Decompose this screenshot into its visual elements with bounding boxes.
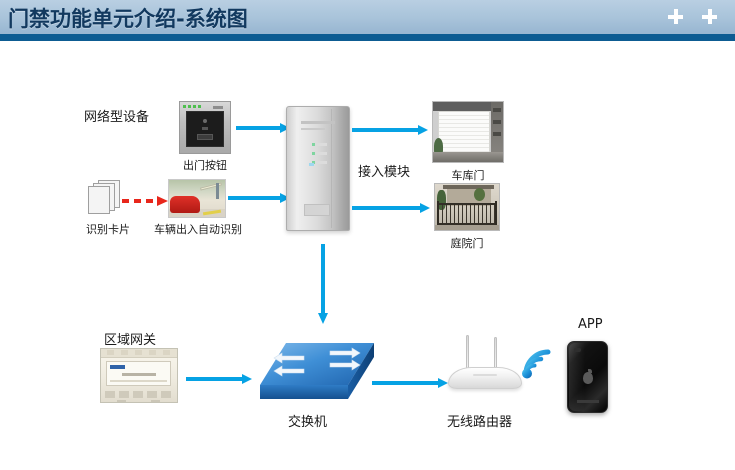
arrow-exit-button-to-module xyxy=(236,123,290,132)
arrow-head xyxy=(242,374,252,384)
vehicle-recognition-image xyxy=(168,179,226,218)
arrow-shaft xyxy=(352,128,419,132)
status-led-4 xyxy=(198,105,201,108)
wall-panel-2 xyxy=(493,120,501,124)
arrow-card-to-vehicle xyxy=(122,196,168,205)
arrow-head xyxy=(420,203,430,213)
node-label-switch: 交换机 xyxy=(288,411,327,430)
arrow-switch-to-router xyxy=(372,378,448,387)
device-brand-mark xyxy=(213,106,223,109)
red-car xyxy=(170,196,200,213)
arrow-shaft xyxy=(236,126,281,130)
garage-floor xyxy=(433,152,503,162)
page-header: 门禁功能单元介绍-系统图 xyxy=(0,0,735,41)
smartphone-image xyxy=(567,341,608,413)
arrow-head xyxy=(418,125,428,135)
gate-plant-right xyxy=(474,188,485,201)
group-label-area-gateway: 区域网关 xyxy=(104,329,156,348)
arrow-module-to-switch xyxy=(318,244,328,324)
status-led-1 xyxy=(183,105,186,108)
wall-panel-1 xyxy=(493,108,501,112)
group-label-app: APP xyxy=(578,317,603,332)
header-divider xyxy=(0,34,735,41)
card-front xyxy=(88,186,110,214)
module-seam xyxy=(331,109,332,228)
panel-indicator xyxy=(203,119,207,123)
arrow-shaft xyxy=(186,377,243,381)
module-led-1 xyxy=(312,143,327,146)
arrow-module-to-garage-door xyxy=(352,125,428,134)
node-label-access-module: 接入模块 xyxy=(358,161,410,180)
iron-gate xyxy=(438,203,496,225)
arrow-shaft xyxy=(228,196,281,200)
module-model-text xyxy=(301,128,325,130)
plus-icon-1[interactable] xyxy=(668,9,683,24)
gate-ground xyxy=(435,225,499,230)
router-body xyxy=(448,367,522,389)
gateway-badge xyxy=(110,365,125,369)
node-label-vehicle-recognition: 车辆出入自动识别 xyxy=(152,221,244,237)
diagram-canvas: 网络型设备 出门按钮 识别卡片 xyxy=(0,41,735,470)
phone-logo xyxy=(583,372,593,384)
rail-tick-5 xyxy=(163,350,170,355)
node-label-wireless-router: 无线路由器 xyxy=(447,411,512,430)
module-logo xyxy=(304,204,330,216)
rail-tick-3 xyxy=(135,350,142,355)
gateway-sub-text xyxy=(110,380,167,382)
node-label-courtyard-gate: 庭院门 xyxy=(437,235,497,251)
phone-brand-text xyxy=(577,400,599,403)
id-card-stack-image xyxy=(88,180,122,216)
router-antenna-left xyxy=(466,335,469,369)
gateway-front-label xyxy=(106,361,171,386)
garage-door-image xyxy=(432,101,504,163)
wireless-router-image xyxy=(448,335,526,389)
node-label-garage-door: 车库门 xyxy=(438,167,498,183)
exit-button-device-image xyxy=(179,101,231,154)
wifi-svg xyxy=(518,344,556,382)
panel-button xyxy=(197,134,213,140)
din-clip-right xyxy=(151,400,160,403)
switch-svg xyxy=(256,341,378,413)
network-switch-image xyxy=(256,341,378,413)
barrier-post xyxy=(216,183,219,199)
arrow-head xyxy=(318,313,328,324)
arrow-head xyxy=(157,196,168,206)
arrow-vehicle-to-module xyxy=(228,193,290,202)
arrow-head xyxy=(438,378,448,388)
group-label-network-devices: 网络型设备 xyxy=(84,106,149,125)
area-gateway-image xyxy=(100,348,178,403)
header-icon-group xyxy=(668,9,717,24)
router-antenna-right xyxy=(494,337,497,369)
rail-tick-1 xyxy=(107,350,114,355)
phone-camera xyxy=(574,348,581,352)
node-label-exit-button: 出门按钮 xyxy=(175,157,235,173)
courtyard-gate-image xyxy=(434,183,500,231)
panel-slot xyxy=(202,127,208,130)
arrow-gateway-to-switch xyxy=(186,374,252,383)
arrow-shaft xyxy=(352,206,421,210)
module-brand-text xyxy=(301,121,335,124)
arrow-shaft xyxy=(372,381,439,385)
module-indicator xyxy=(309,163,314,166)
plus-icon-2[interactable] xyxy=(702,9,717,24)
gate-frame-left xyxy=(437,201,439,227)
access-module-image xyxy=(286,106,350,231)
rail-tick-2 xyxy=(121,350,128,355)
device-front-panel xyxy=(186,111,224,147)
gateway-top-rail xyxy=(101,349,177,358)
node-label-id-card: 识别卡片 xyxy=(78,221,138,237)
wall-panel-3 xyxy=(493,132,501,136)
module-led-2 xyxy=(312,152,327,155)
roller-door xyxy=(438,111,490,153)
house-roof xyxy=(443,185,494,189)
gateway-terminal-ports xyxy=(105,391,173,398)
gate-frame-right xyxy=(495,201,497,227)
device-status-strip xyxy=(183,104,227,109)
arrow-module-to-courtyard-gate xyxy=(352,203,430,212)
status-led-2 xyxy=(188,105,191,108)
page-title: 门禁功能单元介绍-系统图 xyxy=(8,3,248,33)
arrow-dashed-shaft xyxy=(122,199,158,203)
arrow-shaft xyxy=(321,244,325,314)
rail-tick-4 xyxy=(149,350,156,355)
din-clip-left xyxy=(117,400,126,403)
gateway-model-text xyxy=(122,373,156,376)
module-led-3 xyxy=(312,161,327,164)
wifi-icon xyxy=(518,344,556,382)
status-led-3 xyxy=(193,105,196,108)
